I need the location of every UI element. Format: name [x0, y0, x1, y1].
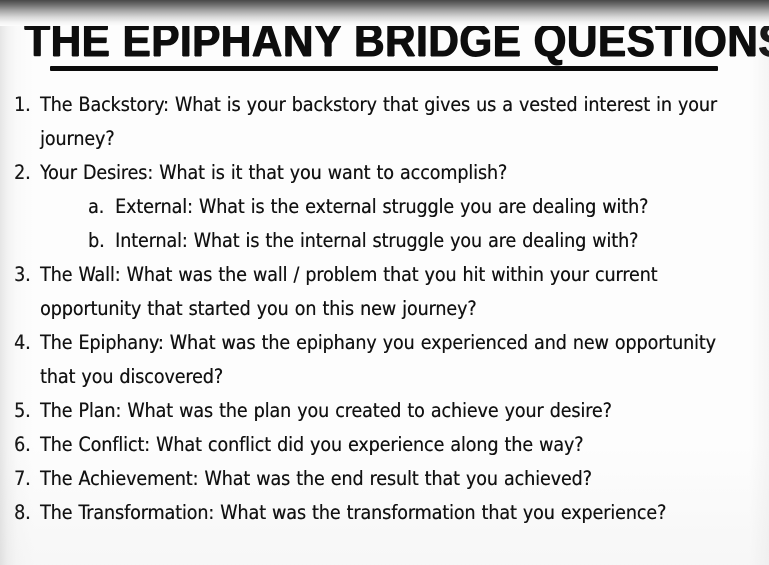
- question-text: The Wall: What was the wall / problem th…: [40, 263, 657, 320]
- question-marker: 6.: [14, 428, 40, 462]
- question-marker: a.: [88, 190, 114, 224]
- question-text: External: What is the external struggle …: [115, 195, 648, 218]
- question-item: 7.The Achievement: What was the end resu…: [0, 462, 769, 496]
- question-item: b.Internal: What is the internal struggl…: [0, 224, 769, 258]
- question-marker: 4.: [14, 326, 40, 360]
- question-item: 1.The Backstory: What is your backstory …: [0, 88, 769, 156]
- question-item: a.External: What is the external struggl…: [0, 190, 769, 224]
- question-item: 2.Your Desires: What is it that you want…: [0, 156, 769, 190]
- question-text: The Conflict: What conflict did you expe…: [40, 433, 583, 456]
- slide-canvas: THE EPIPHANY BRIDGE QUESTIONS 1.The Back…: [0, 0, 769, 565]
- question-marker: 3.: [14, 258, 40, 292]
- question-marker: 7.: [14, 462, 40, 496]
- question-text: The Achievement: What was the end result…: [40, 467, 592, 490]
- question-marker: 2.: [14, 156, 40, 190]
- question-list: 1.The Backstory: What is your backstory …: [0, 88, 769, 530]
- question-marker: b.: [88, 224, 114, 258]
- question-text: Internal: What is the internal struggle …: [115, 229, 638, 252]
- question-text: The Plan: What was the plan you created …: [40, 399, 612, 422]
- title-underline-rule: [50, 66, 718, 71]
- question-marker: 1.: [14, 88, 40, 122]
- question-text: The Epiphany: What was the epiphany you …: [40, 331, 716, 388]
- question-item: 8.The Transformation: What was the trans…: [0, 496, 769, 530]
- slide-title-container: THE EPIPHANY BRIDGE QUESTIONS: [0, 16, 769, 66]
- slide-title: THE EPIPHANY BRIDGE QUESTIONS: [24, 16, 769, 66]
- question-item: 6.The Conflict: What conflict did you ex…: [0, 428, 769, 462]
- question-item: 3.The Wall: What was the wall / problem …: [0, 258, 769, 326]
- question-item: 4.The Epiphany: What was the epiphany yo…: [0, 326, 769, 394]
- question-item: 5.The Plan: What was the plan you create…: [0, 394, 769, 428]
- question-marker: 5.: [14, 394, 40, 428]
- question-text: Your Desires: What is it that you want t…: [40, 161, 507, 184]
- question-marker: 8.: [14, 496, 40, 530]
- question-text: The Transformation: What was the transfo…: [40, 501, 666, 524]
- question-text: The Backstory: What is your backstory th…: [40, 93, 717, 150]
